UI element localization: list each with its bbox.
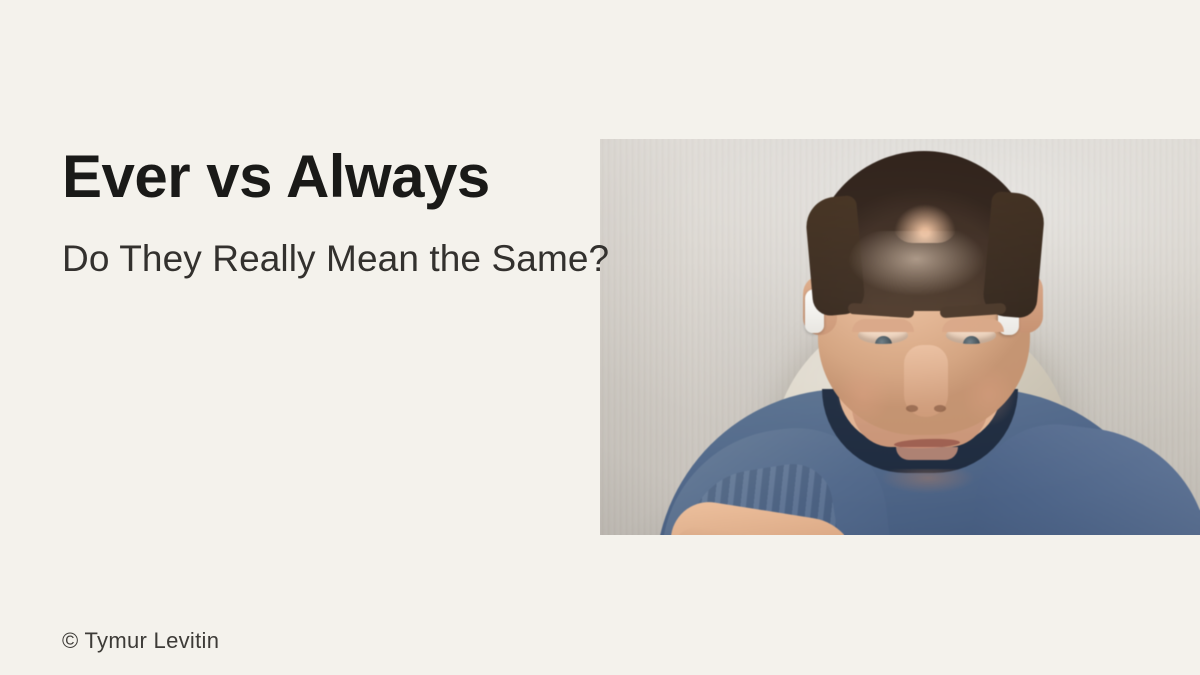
nostril-right — [934, 405, 946, 412]
presentation-slide: Ever vs Always Do They Really Mean the S… — [0, 0, 1200, 675]
iris-left — [875, 336, 892, 344]
cheek-left — [832, 359, 894, 431]
eyelid-right — [942, 319, 1004, 332]
lower-lip — [896, 447, 958, 460]
slide-title: Ever vs Always — [62, 145, 490, 208]
eyelid-left — [852, 319, 914, 332]
forehead-highlight — [848, 231, 1000, 301]
cheek-right — [958, 359, 1020, 431]
webcam-video-feed[interactable] — [600, 139, 1200, 535]
chin-shadow — [876, 469, 980, 499]
copyright-credit: © Tymur Levitin — [62, 628, 219, 654]
iris-right — [963, 336, 980, 344]
nostril-left — [906, 405, 918, 412]
slide-subtitle: Do They Really Mean the Same? — [62, 238, 609, 281]
